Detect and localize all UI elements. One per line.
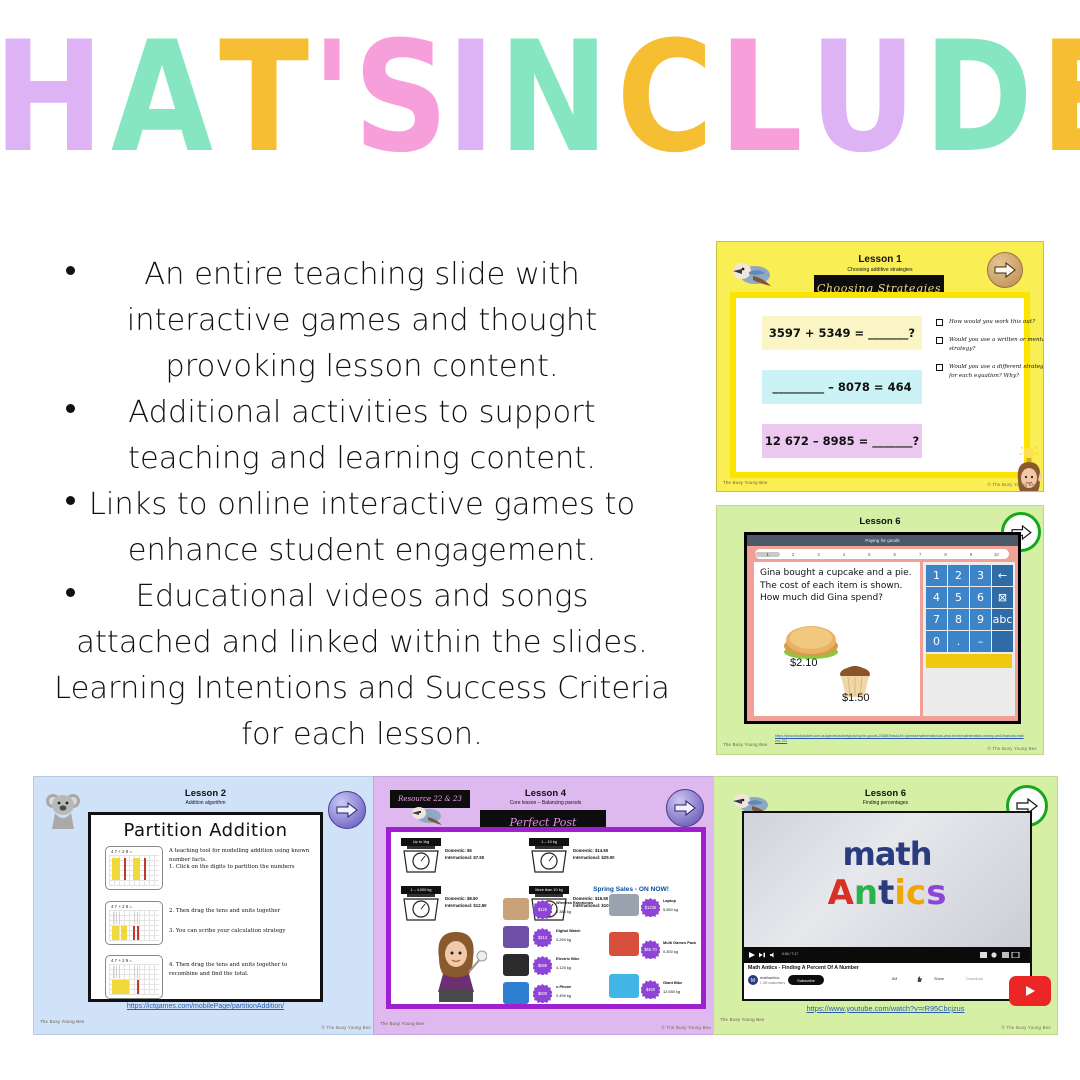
feature-line: attached and linked within the slides. xyxy=(26,620,698,666)
product-name: Multi Games Pack xyxy=(663,940,696,945)
footer-credit-left: The Busy Young Bee xyxy=(723,480,768,485)
logo-line-2: Antics xyxy=(744,873,1030,913)
page-title: WHAT'SINCLUDED xyxy=(0,28,1080,168)
equation-1: 3597 + 5349 = _______? xyxy=(762,316,922,350)
feature-line: Additional activities to support xyxy=(26,390,698,436)
product-info-6: Giant Bike12.650 kg xyxy=(663,980,682,994)
title-letter-4: ' xyxy=(311,30,351,167)
product-price-badge: $450 xyxy=(641,980,660,999)
game-body: 12345678910 Gina bought a cupcake and a … xyxy=(747,546,1018,721)
title-letter-3: T xyxy=(219,30,308,167)
progress-step-4[interactable]: 4 xyxy=(831,552,856,557)
product-name: Electric Bike xyxy=(556,956,579,961)
equation-2: _________ – 8078 = 464 xyxy=(762,370,922,404)
progress-step-1[interactable]: 1 xyxy=(755,552,780,557)
progress-step-5[interactable]: 5 xyxy=(857,552,882,557)
product-weight: 5.550 kg xyxy=(663,907,678,912)
play-icon xyxy=(1023,984,1037,998)
bullet-dot-icon xyxy=(66,496,75,505)
app-title: Paying for goods xyxy=(865,538,899,543)
numeric-keypad[interactable]: 123←456⊠789abc0.– xyxy=(923,562,1015,716)
product-weight: 0.499 kg xyxy=(556,993,571,998)
slide-content: 3597 + 5349 = _______? _________ – 8078 … xyxy=(730,292,1030,478)
progress-step-7[interactable]: 7 xyxy=(907,552,932,557)
progress-step-2[interactable]: 2 xyxy=(780,552,805,557)
product-weight: 12.650 kg xyxy=(663,989,682,994)
youtube-player[interactable]: math Antics 0:04 / 7:17 Math Antics - Fi… xyxy=(742,811,1032,1001)
bullet-dot-icon xyxy=(66,404,75,413)
scale-price-line: International: $29.00 xyxy=(573,855,615,862)
arrow-right-icon xyxy=(336,802,358,818)
app-titlebar: Paying for goods xyxy=(747,535,1018,546)
activity-heading: Partition Addition xyxy=(91,820,320,841)
checklist-item: How would you work this out? xyxy=(936,318,1044,327)
equation-3: 12 672 – 8985 = _______? xyxy=(762,424,922,458)
product-price-badge: $685 xyxy=(533,956,552,975)
keypad-key-←[interactable]: ← xyxy=(992,565,1013,586)
postage-scale-0: Up to 1kgDomestic: $5International: $7.5… xyxy=(401,838,441,874)
next-arrow-button[interactable] xyxy=(666,789,704,827)
scale-weight-label: More than 10 kg xyxy=(529,886,569,894)
video-title: Math Antics - Finding A Percent Of A Num… xyxy=(748,965,859,971)
feature-line: for each lesson. xyxy=(26,712,698,758)
checklist-label: Would you use a different strategy for e… xyxy=(949,364,1044,379)
scale-price-info: Domestic: $14.50International: $29.00 xyxy=(573,848,615,861)
price-cupcake: $1.50 xyxy=(842,692,870,704)
product-price-badge: $213 xyxy=(533,928,552,947)
title-letter-2: A xyxy=(111,30,212,167)
checklist-item: Would you use a different strategy for e… xyxy=(936,363,1044,381)
resource-tag-text: Resource 22 & 23 xyxy=(398,795,462,803)
feature-line: Learning Intentions and Success Criteria xyxy=(26,666,698,712)
product-name: Laptop xyxy=(663,898,678,903)
title-letter-8: N xyxy=(499,30,609,167)
checkbox-icon[interactable] xyxy=(936,319,943,326)
product-image-2 xyxy=(503,954,529,976)
bullet-dot-icon xyxy=(66,588,75,597)
keypad-key-blank[interactable] xyxy=(992,631,1013,652)
koala-icon xyxy=(44,789,84,831)
title-letter-10: L xyxy=(719,30,802,167)
dislike-icon[interactable] xyxy=(916,976,922,982)
activity-step-4: 4. Then drag the tens and units together… xyxy=(169,961,317,979)
product-image-3 xyxy=(503,982,529,1004)
keypad-key-⊠[interactable]: ⊠ xyxy=(992,587,1013,608)
keypad-key-2[interactable]: 2 xyxy=(948,565,969,586)
video-url-link[interactable]: https://www.youtube.com/watch?v=rR95Cbcj… xyxy=(714,1004,1057,1013)
partition-grid xyxy=(109,910,159,941)
scale-price-line: International: $7.50 xyxy=(445,855,484,862)
arrow-right-icon xyxy=(674,800,696,816)
video-thumbnail[interactable]: math Antics 0:04 / 7:17 xyxy=(744,813,1030,963)
question-progress-bar[interactable]: 12345678910 xyxy=(755,549,1009,559)
feature-line: teaching and learning content. xyxy=(26,436,698,482)
keypad-key-9[interactable]: 9 xyxy=(970,609,991,630)
progress-step-10[interactable]: 10 xyxy=(984,552,1009,557)
progress-step-3[interactable]: 3 xyxy=(806,552,831,557)
progress-step-8[interactable]: 8 xyxy=(933,552,958,557)
product-image-0 xyxy=(503,898,529,920)
keypad-key-5[interactable]: 5 xyxy=(948,587,969,608)
footer-credit-right: © The Busy Young Bee xyxy=(988,746,1037,751)
title-letter-7: I xyxy=(446,30,494,167)
activity-step-1: 1. Click on the digits to partition the … xyxy=(169,863,317,872)
scale-price-info: Domestic: $5International: $7.50 xyxy=(445,848,484,861)
footer-credit-right: © The Busy Young Bee xyxy=(1002,1025,1051,1030)
product-image-4 xyxy=(609,894,639,916)
subscribe-button[interactable]: Subscribe xyxy=(788,975,824,985)
product-info-3: e-Phone0.499 kg xyxy=(556,984,571,998)
product-info-1: Digital Watch0.294 kg xyxy=(556,928,581,942)
partition-card[interactable]: 4 7 + 2 9 = xyxy=(105,901,163,945)
price-pie: $2.10 xyxy=(790,657,818,669)
feature-item-4: Learning Intentions and Success Criteria… xyxy=(22,666,702,758)
keypad-key-3[interactable]: 3 xyxy=(970,565,991,586)
feature-item-1: Additional activities to supportteaching… xyxy=(22,390,702,482)
activity-step-2: 2. Then drag the tens and units together xyxy=(169,907,317,916)
svg-text:M: M xyxy=(751,978,755,984)
title-letter-9: C xyxy=(616,30,712,167)
lesson-subtitle: Addition algorithm xyxy=(34,800,377,806)
video-timestamp: 0:04 / 7:17 xyxy=(782,952,798,956)
checkbox-icon[interactable] xyxy=(936,364,943,371)
postage-scale-1: 1 – 10 kgDomestic: $14.50International: … xyxy=(529,838,569,874)
slide-thumbnail-lesson6-goods[interactable]: Lesson 6 Paying for goods 12345678910 Gi… xyxy=(716,505,1044,755)
partition-card[interactable]: 4 7 + 2 9 = xyxy=(105,846,163,890)
checklist-item: Would you use a written or mental strate… xyxy=(936,336,1044,354)
partition-grid xyxy=(109,855,159,886)
logo-line-1: math xyxy=(744,835,1030,873)
slide-thumbnail-lesson6-video[interactable]: Lesson 6 Finding percentages math Antics xyxy=(713,776,1058,1035)
partition-card[interactable]: 4 7 + 2 9 = xyxy=(105,955,163,999)
product-price-badge: $500 xyxy=(533,984,552,1003)
checklist-label: How would you work this out? xyxy=(949,319,1035,325)
answer-field[interactable] xyxy=(926,654,1012,668)
product-info-5: Multi Games Pack0.300 kg xyxy=(663,940,696,954)
keypad-key-1[interactable]: 1 xyxy=(926,565,947,586)
feature-item-2: Links to online interactive games toenha… xyxy=(22,482,702,574)
feature-line: Links to online interactive games to xyxy=(26,482,698,528)
product-image-6 xyxy=(609,974,639,998)
lesson-title: Lesson 6 xyxy=(717,516,1043,527)
arrow-right-icon xyxy=(994,262,1016,278)
download-action[interactable]: Download xyxy=(966,977,983,981)
volume-icon[interactable] xyxy=(770,952,777,958)
feature-line: enhance student engagement. xyxy=(26,528,698,574)
product-name: Wireless Earphones xyxy=(556,900,593,905)
next-arrow-button[interactable] xyxy=(987,252,1023,288)
slide-content: Partition Addition 4 7 + 2 9 = A teachin… xyxy=(88,812,323,1002)
slide-thumbnail-lesson4[interactable]: Lesson 4 Core lesson – Balancing parcels… xyxy=(373,776,718,1035)
keypad-key-abc[interactable]: abc xyxy=(992,609,1013,630)
footer-credit-right: © The Busy Young Bee xyxy=(662,1025,711,1030)
like-action[interactable]: 8M xyxy=(892,977,897,981)
product-price-badge: $65.70 xyxy=(641,940,660,959)
postage-scale-2: 1 – 4,000 kgDomestic: $8.50International… xyxy=(401,886,441,922)
feature-line: An entire teaching slide with xyxy=(26,252,698,298)
scale-weight-label: 1 – 4,000 kg xyxy=(401,886,441,894)
play-icon[interactable] xyxy=(749,952,755,958)
game-url-link[interactable]: https://ictgames.com/mobilePage/partitio… xyxy=(34,1003,377,1010)
scale-weight-label: Up to 1kg xyxy=(401,838,441,846)
keypad-key-7[interactable]: 7 xyxy=(926,609,947,630)
sales-heading: Spring Sales - ON NOW! xyxy=(561,886,701,893)
scale-weight-label: 1 – 10 kg xyxy=(529,838,569,846)
feature-line: provoking lesson content. xyxy=(26,344,698,390)
slide-content: Spring Sales - ON NOW! Up to 1kgDomestic… xyxy=(386,827,706,1009)
footer-credit-left: The Busy Young Bee xyxy=(723,742,768,747)
subscriber-count: 1.3M subscribers xyxy=(760,981,785,985)
keypad-key-0[interactable]: 0 xyxy=(926,631,947,652)
game-url-link[interactable]: https://www.studyladder.com.au/games/act… xyxy=(775,734,1025,744)
footer-credit-left: The Busy Young Bee xyxy=(720,1017,765,1022)
title-letter-11: U xyxy=(809,30,915,167)
product-weight: 4.125 kg xyxy=(556,965,579,970)
next-track-icon[interactable] xyxy=(759,952,765,958)
feature-line: Educational videos and songs xyxy=(26,574,698,620)
product-info-4: Laptop5.550 kg xyxy=(663,898,678,912)
video-metadata: Math Antics - Finding A Percent Of A Num… xyxy=(744,963,1030,999)
footer-credit-left: The Busy Young Bee xyxy=(40,1019,85,1024)
title-letter-5: S xyxy=(354,30,448,167)
next-arrow-button[interactable] xyxy=(328,791,366,829)
keypad-key-4[interactable]: 4 xyxy=(926,587,947,608)
product-name: e-Phone xyxy=(556,984,571,989)
features-list: An entire teaching slide withinteractive… xyxy=(22,252,702,758)
keypad-key-–[interactable]: – xyxy=(970,631,991,652)
video-controls[interactable]: 0:04 / 7:17 xyxy=(744,947,1030,963)
interactive-game-screen[interactable]: Paying for goods 12345678910 Gina bought… xyxy=(744,532,1021,724)
partition-grid xyxy=(109,964,159,995)
feature-item-3: Educational videos and songsattached and… xyxy=(22,574,702,666)
checkbox-icon[interactable] xyxy=(936,337,943,344)
product-info-2: Electric Bike4.125 kg xyxy=(556,956,579,970)
product-name: Digital Watch xyxy=(556,928,581,933)
title-letter-12: D xyxy=(924,30,1033,167)
slide-thumbnail-lesson1[interactable]: Lesson 1 Choosing additive strategies Ch… xyxy=(716,241,1044,492)
slide-thumbnail-lesson2[interactable]: Lesson 2 Addition algorithm Partition Ad… xyxy=(33,776,378,1035)
partition-card-header: 4 7 + 2 9 = xyxy=(111,958,132,963)
question-checklist: How would you work this out? Would you u… xyxy=(936,318,1044,390)
progress-step-6[interactable]: 6 xyxy=(882,552,907,557)
channel-avatar[interactable]: M xyxy=(748,975,758,985)
kookaburra-icon xyxy=(725,258,777,294)
question-panel: Gina bought a cupcake and a pie. The cos… xyxy=(754,562,920,716)
teacher-avatar xyxy=(425,928,487,1008)
activity-step-3: 3. You can scribe your calculation strat… xyxy=(169,927,317,936)
feature-item-0: An entire teaching slide withinteractive… xyxy=(22,252,702,390)
product-price-badge: $1235 xyxy=(641,898,660,917)
scale-price-line: International: $12.50 xyxy=(445,903,487,910)
partition-card-header: 4 7 + 2 9 = xyxy=(111,849,132,854)
scale-icon xyxy=(401,846,441,874)
math-antics-logo: math Antics xyxy=(744,835,1030,913)
scale-icon xyxy=(529,846,569,874)
footer-credit-right: © The Busy Young Bee xyxy=(988,482,1037,487)
product-image-5 xyxy=(609,932,639,956)
question-text: Gina bought a cupcake and a pie. The cos… xyxy=(760,567,916,605)
product-weight: 0.300 kg xyxy=(663,949,696,954)
product-info-0: Wireless Earphones0.384 kg xyxy=(556,900,593,914)
feature-line: interactive games and thought xyxy=(26,298,698,344)
keypad-key-.[interactable]: . xyxy=(948,631,969,652)
scale-icon xyxy=(401,894,441,922)
product-weight: 0.294 kg xyxy=(556,937,581,942)
product-weight: 0.384 kg xyxy=(556,909,593,914)
checklist-label: Would you use a written or mental strate… xyxy=(949,337,1044,352)
partition-card-header: 4 7 + 2 9 = xyxy=(111,904,132,909)
product-image-1 xyxy=(503,926,529,948)
title-letter-13: E xyxy=(1040,30,1080,167)
share-action[interactable]: Share xyxy=(934,977,944,981)
title-letter-1: H xyxy=(0,30,103,167)
footer-credit-left: The Busy Young Bee xyxy=(380,1021,425,1026)
scale-price-info: Domestic: $8.50International: $12.50 xyxy=(445,896,487,909)
product-name: Giant Bike xyxy=(663,980,682,985)
player-settings-icons[interactable] xyxy=(970,952,1024,958)
youtube-logo-button[interactable] xyxy=(1009,976,1051,1006)
keypad-key-6[interactable]: 6 xyxy=(970,587,991,608)
footer-credit-right: © The Busy Young Bee xyxy=(322,1025,371,1030)
progress-step-9[interactable]: 9 xyxy=(958,552,983,557)
channel-name[interactable]: mathantics xyxy=(760,975,779,980)
lesson-title: Lesson 2 xyxy=(34,788,377,799)
bullet-dot-icon xyxy=(66,266,75,275)
keypad-key-8[interactable]: 8 xyxy=(948,609,969,630)
pie-image xyxy=(782,620,840,660)
